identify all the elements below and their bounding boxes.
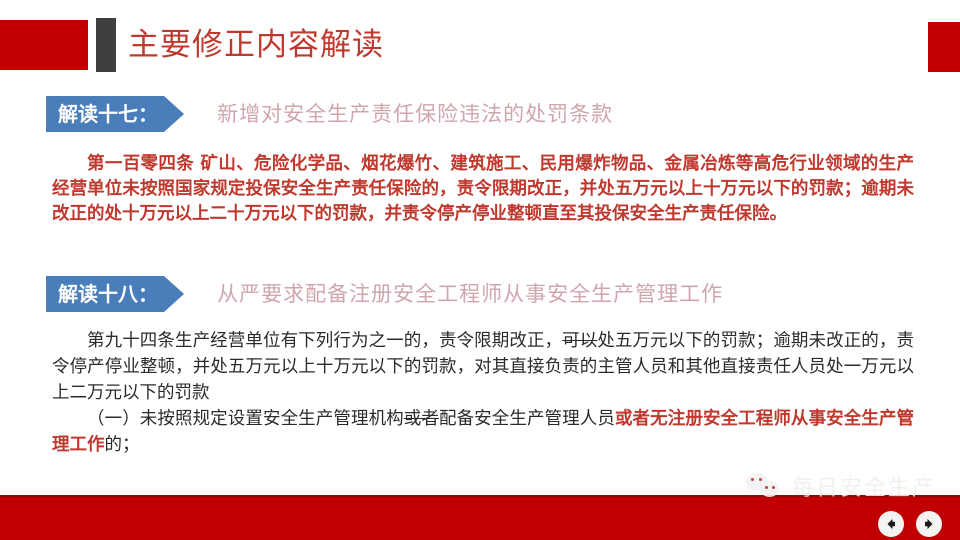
wechat-icon [746,471,784,501]
paragraph-18-2: （一）未按照规定设置安全生产管理机构或者配备安全生产管理人员或者无注册安全工程师… [52,406,914,458]
section-tag-18: 解读十八： [46,276,164,312]
section-heading-18: 解读十八： 从严要求配备注册安全工程师从事安全生产管理工作 [46,276,723,312]
header-gray-bar [96,18,116,72]
prev-button[interactable] [878,511,904,537]
paragraph-17-1: 第一百零四条 矿山、危险化学品、烟花爆竹、建筑施工、民用爆炸物品、金属冶炼等高危… [52,152,914,227]
struck-text: 或者 [404,409,439,429]
text-run: 第九十四条生产经营单位有下列行为之一的，责令限期改正， [87,331,562,351]
section-heading-17: 解读十七： 新增对安全生产责任保险违法的处罚条款 [46,96,613,132]
section-tag-17: 解读十七： [46,96,164,132]
nav-buttons [878,511,942,537]
watermark: 每日安全生产 [746,470,936,502]
arrow-right-icon [922,517,936,531]
text-run: （一）未按照规定设置安全生产管理机构 [87,409,404,429]
section-title-17: 新增对安全生产责任保险违法的处罚条款 [217,96,613,132]
next-button[interactable] [916,511,942,537]
header-red-block-left [0,20,88,70]
text-run: 配备安全生产管理人员 [439,409,615,429]
arrow-left-icon [884,517,898,531]
slide-canvas: 主要修正内容解读 解读十七： 新增对安全生产责任保险违法的处罚条款 第一百零四条… [0,0,960,540]
header-red-block-right [928,22,960,72]
section-body-18: 第九十四条生产经营单位有下列行为之一的，责令限期改正，可以处五万元以下的罚款；逾… [52,328,914,458]
text-run: 的； [105,435,140,455]
footer-band [0,497,960,540]
page-title: 主要修正内容解读 [128,20,384,70]
section-body-17: 第一百零四条 矿山、危险化学品、烟花爆竹、建筑施工、民用爆炸物品、金属冶炼等高危… [52,152,914,227]
section-title-18: 从严要求配备注册安全工程师从事安全生产管理工作 [217,276,723,312]
paragraph-18-1: 第九十四条生产经营单位有下列行为之一的，责令限期改正，可以处五万元以下的罚款；逾… [52,328,914,406]
struck-text: 可以 [562,331,597,351]
watermark-label: 每日安全生产 [792,470,936,502]
